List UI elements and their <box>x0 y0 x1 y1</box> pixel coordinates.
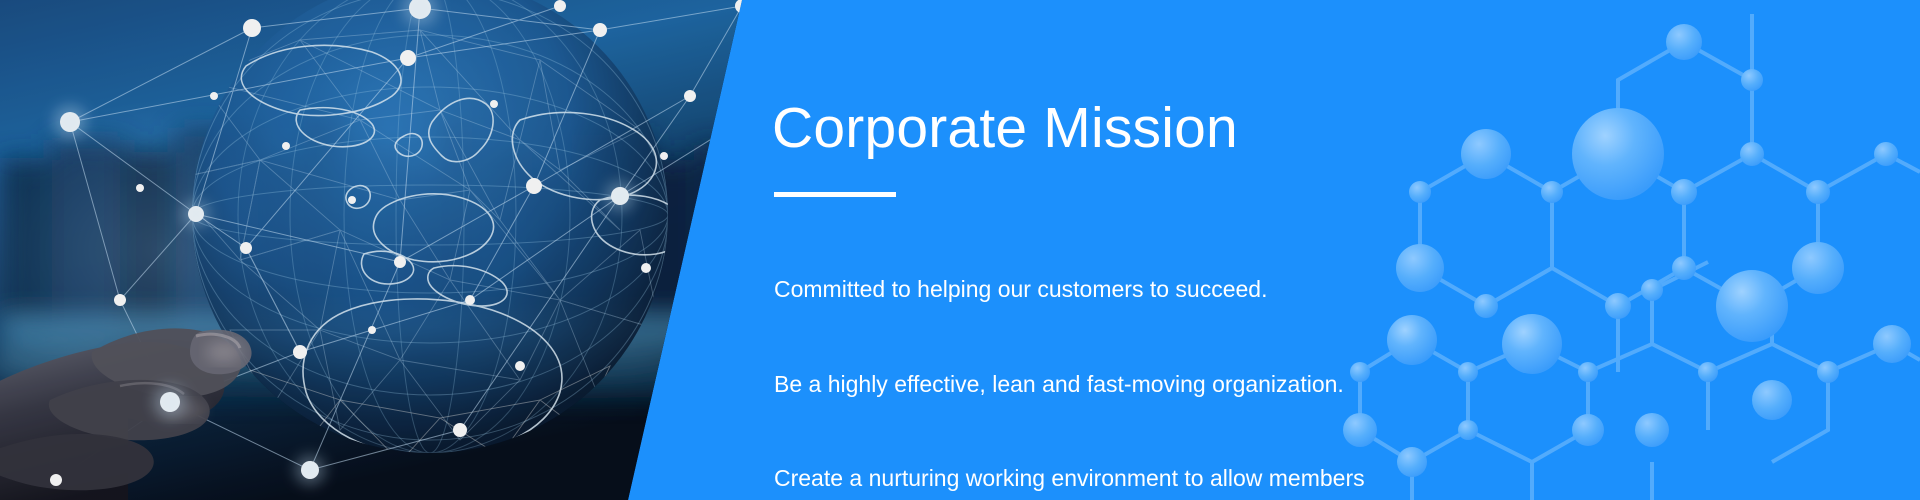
mission-line-2: Be a highly effective, lean and fast-mov… <box>774 369 1365 401</box>
page-title: Corporate Mission <box>772 94 1238 162</box>
mission-line-1: Committed to helping our customers to su… <box>774 274 1365 306</box>
mission-statement: Committed to helping our customers to su… <box>774 211 1365 500</box>
title-underline-rule <box>774 192 896 197</box>
mission-text-block: Corporate Mission Committed to helping o… <box>772 0 1472 500</box>
corporate-mission-banner: Corporate Mission Committed to helping o… <box>0 0 1920 500</box>
mission-line-3: Create a nurturing working environment t… <box>774 463 1365 495</box>
